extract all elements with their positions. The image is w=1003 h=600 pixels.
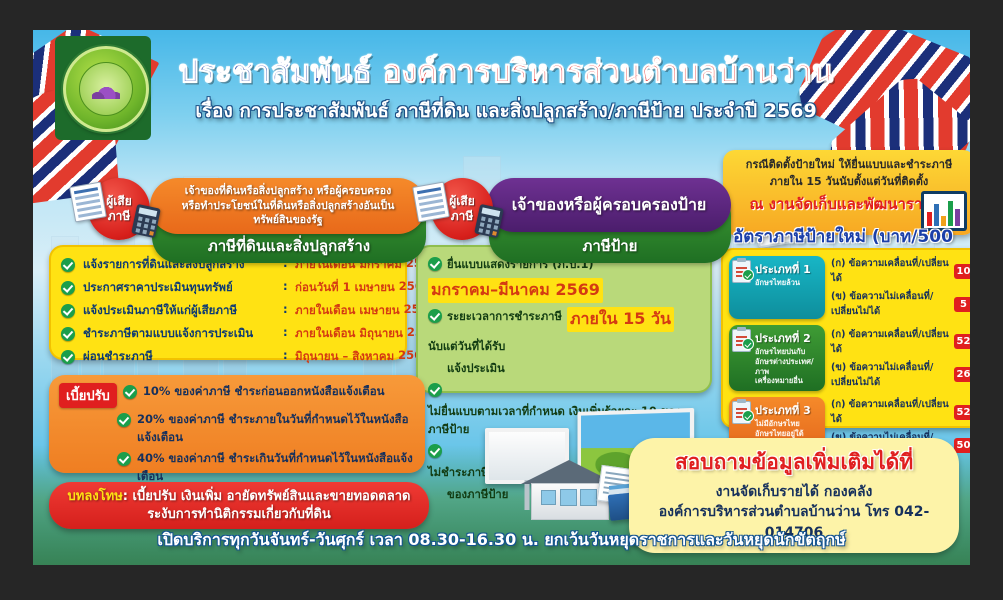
rate-type-1-rows: (ก) ข้อความเคลื่อนที่/เปลี่ยนได้ 10 (ข) …: [831, 256, 970, 319]
schedule-row: แจ้งประเมินภาษีให้แก่ผู้เสียภาษี : ภายใน…: [61, 302, 395, 320]
penalty-row: เบี้ยปรับ 10% ของค่าภาษี ชำระก่อนออกหนัง…: [59, 383, 415, 408]
notice-line-1: กรณีติดตั้งป้ายใหม่ ให้ยื่นแบบและชำระภาษ…: [731, 157, 967, 174]
rule-continuation: แจ้งประเมิน: [428, 359, 700, 377]
check-badge-icon: [742, 269, 754, 281]
penalty-text: 10% ของค่าภาษี ชำระก่อนออกหนังสือแจ้งเตื…: [143, 383, 385, 401]
type-name: ประเภทที่ 3: [755, 401, 821, 419]
punishment-line-1: : เบี้ยปรับ เงินเพิ่ม อายัดทรัพย์สินและข…: [123, 489, 411, 504]
rule-highlight: มกราคม–มีนาคม 2569: [428, 278, 603, 303]
check-icon: [428, 383, 442, 397]
poster: ประชาสัมพันธ์ องค์การบริหารส่วนตำบลบ้านว…: [33, 30, 970, 565]
notice-line-2: ภายใน 15 วันนับตั้งแต่วันที่ติดตั้ง: [731, 174, 967, 191]
schedule-label: ประกาศราคาประเมินทุนทรัพย์: [83, 279, 279, 297]
payer-badge-line2: ภาษี: [451, 209, 474, 224]
sign-rate-table: ประเภทที่ 1 อักษรไทยล้วน (ก) ข้อความเคลื…: [721, 248, 970, 428]
check-icon: [428, 309, 442, 323]
fine-tag: เบี้ยปรับ: [59, 383, 117, 408]
rate-value: 5: [954, 297, 970, 312]
penalty-text: 20% ของค่าภาษี ชำระภายในวันที่กำหนดไว้ใน…: [137, 411, 415, 447]
house-windows: [541, 490, 556, 505]
check-icon: [61, 258, 75, 272]
rule-text-post: นับแต่วันที่ได้รับ: [428, 337, 505, 355]
check-icon: [123, 385, 137, 399]
emblem-circle-icon: [63, 46, 149, 132]
title-primary: ประชาสัมพันธ์: [178, 54, 371, 90]
rule-row: ระยะเวลาการชำระภาษี ภายใน 15 วัน นับแต่ว…: [428, 307, 700, 355]
schedule-separator: :: [283, 325, 291, 339]
document-icon: [69, 181, 107, 222]
schedule-label: แจ้งประเมินภาษีให้แก่ผู้เสียภาษี: [83, 302, 279, 320]
schedule-separator: :: [283, 279, 291, 293]
page-subtitle: เรื่อง การประชาสัมพันธ์ ภาษีที่ดิน และสิ…: [161, 96, 851, 126]
penalty-row: 40% ของค่าภาษี ชำระเกินวันที่กำหนดไว้ในห…: [59, 450, 415, 486]
page-title: ประชาสัมพันธ์ องค์การบริหารส่วนตำบลบ้านว…: [161, 56, 851, 89]
poster-stage: ประชาสัมพันธ์ องค์การบริหารส่วนตำบลบ้านว…: [0, 0, 1003, 600]
rate-text: (ก) ข้อความเคลื่อนที่/เปลี่ยนได้: [831, 327, 950, 357]
punishment-bar: บทลงโทษ: เบี้ยปรับ เงินเพิ่ม อายัดทรัพย์…: [49, 482, 429, 529]
type-subtitle: อักษรไทยปนกับ อักษรต่างประเทศ/ภาพ เครื่อ…: [755, 347, 821, 386]
schedule-row: ประกาศราคาประเมินทุนทรัพย์ : ก่อนวันที่ …: [61, 279, 395, 297]
schedule-row: ชำระภาษีตามแบบแจ้งการประเมิน : ภายในเดือ…: [61, 325, 395, 343]
schedule-value: ก่อนวันที่ 1 เมษายน: [295, 279, 395, 297]
check-icon: [61, 350, 75, 364]
rule-highlight: ภายใน 15 วัน: [567, 307, 674, 332]
payer-badge-line2: ภาษี: [108, 209, 131, 224]
check-badge-icon: [742, 410, 754, 422]
check-icon: [117, 413, 131, 427]
rate-value: 50: [954, 438, 970, 453]
penalty-row: 20% ของค่าภาษี ชำระภายในวันที่กำหนดไว้ใน…: [59, 411, 415, 447]
check-icon: [117, 452, 131, 466]
rate-type-row: ประเภทที่ 1 อักษรไทยล้วน (ก) ข้อความเคลื…: [729, 256, 970, 319]
payer-badge-line1: ผู้เสีย: [106, 194, 132, 209]
contact-line-1: งานจัดเก็บรายได้ กองคลัง: [643, 482, 945, 502]
sign-type-2-chip: ประเภทที่ 2 อักษรไทยปนกับ อักษรต่างประเท…: [729, 325, 825, 391]
rate-text: (ก) ข้อความเคลื่อนที่/เปลี่ยนได้: [831, 256, 950, 286]
punishment-tag: บทลงโทษ: [68, 489, 123, 504]
check-icon: [61, 327, 75, 341]
payer-badge-line1: ผู้เสีย: [449, 194, 475, 209]
service-hours-text: เปิดบริการทุกวันจันทร์-วันศุกร์ เวลา 08.…: [33, 528, 970, 553]
rate-value: 52: [954, 334, 970, 349]
check-icon: [61, 304, 75, 318]
sign-type-1-chip: ประเภทที่ 1 อักษรไทยล้วน: [729, 256, 825, 319]
rate-text: (ข) ข้อความไม่เคลื่อนที่/เปลี่ยนไม่ได้: [831, 360, 950, 390]
punishment-line-2: ระงับการทำนิติกรรมเกี่ยวกับที่ดิน: [63, 506, 415, 524]
schedule-label: ชำระภาษีตามแบบแจ้งการประเมิน: [83, 325, 279, 343]
title-organization: องค์การบริหารส่วนตำบลบ้านว่าน: [383, 54, 834, 90]
rule-text: ระยะเวลาการชำระภาษี: [447, 307, 562, 325]
rate-type-2-rows: (ก) ข้อความเคลื่อนที่/เปลี่ยนได้ 52 (ข) …: [831, 325, 970, 391]
rate-type-row: ประเภทที่ 2 อักษรไทยปนกับ อักษรต่างประเท…: [729, 325, 970, 391]
schedule-row: ผ่อนชำระภาษี : มิถุนายน – สิงหาคม 2569: [61, 348, 395, 366]
emblem-inner-icon: [79, 62, 133, 116]
schedule-label: ผ่อนชำระภาษี: [83, 348, 279, 366]
rate-text: (ก) ข้อความเคลื่อนที่/เปลี่ยนได้: [831, 397, 950, 427]
rate-value: 10: [954, 264, 970, 279]
sign-tax-payer-description: เจ้าของหรือผู้ครอบครองป้าย: [487, 178, 731, 232]
schedule-value: ภายในเดือน มิถุนายน: [295, 325, 403, 343]
check-badge-icon: [742, 338, 754, 350]
schedule-separator: :: [283, 348, 291, 362]
check-icon: [428, 444, 442, 458]
document-icon: [412, 181, 450, 222]
schedule-separator: :: [283, 302, 291, 316]
type-subtitle: อักษรไทยล้วน: [755, 278, 821, 288]
contact-heading: สอบถามข้อมูลเพิ่มเติมได้ที่: [643, 446, 945, 479]
rate-line: (ก) ข้อความเคลื่อนที่/เปลี่ยนได้ 10: [831, 256, 970, 286]
check-icon: [428, 257, 442, 271]
rate-value: 26: [954, 367, 970, 382]
rate-line: (ก) ข้อความเคลื่อนที่/เปลี่ยนได้ 52: [831, 397, 970, 427]
rate-value: 52: [954, 405, 970, 420]
land-tax-payer-description: เจ้าของที่ดินหรือสิ่งปลูกสร้าง หรือผู้คร…: [150, 178, 426, 234]
penalty-text: 40% ของค่าภาษี ชำระเกินวันที่กำหนดไว้ในห…: [137, 450, 415, 486]
organization-emblem: [55, 36, 151, 140]
rate-line: (ข) ข้อความไม่เคลื่อนที่/เปลี่ยนไม่ได้ 2…: [831, 360, 970, 390]
rate-text: (ข) ข้อความไม่เคลื่อนที่/เปลี่ยนไม่ได้: [831, 289, 950, 319]
rate-line: (ข) ข้อความไม่เคลื่อนที่/เปลี่ยนไม่ได้ 5: [831, 289, 970, 319]
sign-tax-rules-card: ยื่นแบบแสดงรายการ (ภ.ป.1) มกราคม–มีนาคม …: [416, 245, 712, 393]
type-name: ประเภทที่ 1: [755, 260, 821, 278]
penalty-card: เบี้ยปรับ 10% ของค่าภาษี ชำระก่อนออกหนัง…: [49, 375, 425, 473]
schedule-value: ภายในเดือน เมษายน: [295, 302, 400, 320]
type-name: ประเภทที่ 2: [755, 329, 821, 347]
check-icon: [61, 281, 75, 295]
schedule-value: มิถุนายน – สิงหาคม: [295, 348, 394, 366]
rate-line: (ก) ข้อความเคลื่อนที่/เปลี่ยนได้ 52: [831, 327, 970, 357]
